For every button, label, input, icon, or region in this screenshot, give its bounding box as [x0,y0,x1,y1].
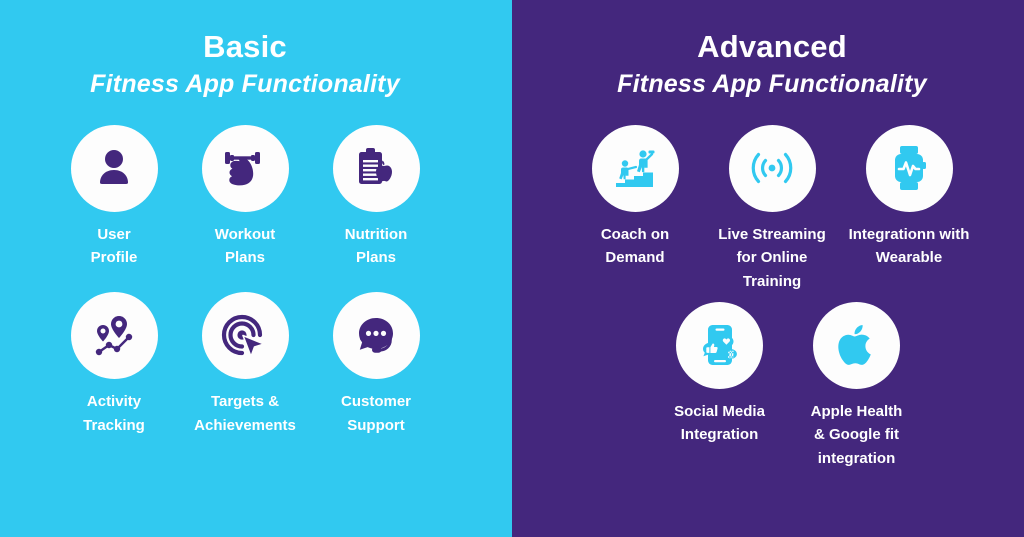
smartwatch-heartbeat-icon [886,143,932,193]
user-profile-badge [71,125,158,212]
feature-label: Nutrition Plans [345,223,407,270]
basic-panel: Basic Fitness App Functionality User Pro… [0,0,512,537]
social-media-badge [676,302,763,389]
coach-stairs-icon [610,143,660,193]
advanced-features-row-1: Coach on Demand [520,125,1024,294]
feature-nutrition-plans[interactable]: Nutrition Plans [311,125,442,270]
feature-label-line1: Apple Health [811,400,903,424]
feature-customer-support[interactable]: Customer Support [311,292,442,437]
feature-live-streaming[interactable]: Live Streaming for Online Training [704,125,841,294]
feature-label: Apple Health & Google fit integration [811,400,903,471]
fitness-app-functionality-infographic: Basic Fitness App Functionality User Pro… [0,0,1024,537]
targets-achievements-badge [202,292,289,379]
feature-label-line1: Workout [215,223,276,247]
map-pins-route-icon [89,311,139,361]
feature-label-line2: Profile [91,246,138,270]
feature-label-line2: Plans [215,246,276,270]
feature-label: Activity Tracking [83,390,145,437]
live-streaming-badge [729,125,816,212]
feature-label-line1: User [91,223,138,247]
advanced-heading-main: Advanced [520,30,1024,65]
target-cursor-icon [220,311,270,361]
activity-tracking-badge [71,292,158,379]
clipboard-apple-icon [351,143,401,193]
feature-label-line1: Coach on [601,223,669,247]
advanced-heading-sub: Fitness App Functionality [520,69,1024,99]
basic-heading-sub: Fitness App Functionality [0,69,512,99]
customer-support-badge [333,292,420,379]
headset-chat-icon [351,311,401,361]
feature-label: Social Media Integration [674,400,765,447]
feature-label-line2: for Online [718,246,826,270]
dumbbell-arm-icon [219,144,271,192]
workout-plans-badge [202,125,289,212]
feature-label-line1: Social Media [674,400,765,424]
feature-wearable-integration[interactable]: Integrationn with Wearable [841,125,978,294]
feature-label: Coach on Demand [601,223,669,270]
feature-label-line2: Tracking [83,414,145,438]
wearable-integration-badge [866,125,953,212]
feature-label-line2: Integration [674,423,765,447]
feature-workout-plans[interactable]: Workout Plans [180,125,311,270]
apple-logo-icon [835,320,879,370]
feature-label-line3: Training [718,270,826,294]
feature-label-line2: Demand [601,246,669,270]
broadcast-waves-icon [747,145,797,191]
advanced-features-row-2: Social Media Integration [552,302,1024,471]
feature-label-line1: Nutrition [345,223,407,247]
advanced-heading-block: Advanced Fitness App Functionality [512,0,1024,99]
feature-activity-tracking[interactable]: Activity Tracking [49,292,180,437]
feature-label-line1: Targets & [194,390,296,414]
feature-label-line2: Plans [345,246,407,270]
feature-coach-on-demand[interactable]: Coach on Demand [567,125,704,294]
feature-label-line2: Support [341,414,411,438]
feature-label: Live Streaming for Online Training [718,223,826,294]
feature-label-line3: integration [811,447,903,471]
coach-on-demand-badge [592,125,679,212]
feature-label: User Profile [91,223,138,270]
phone-social-icon [695,320,745,370]
basic-heading-block: Basic Fitness App Functionality [0,0,512,99]
advanced-panel: Advanced Fitness App Functionality [512,0,1024,537]
feature-label: Workout Plans [215,223,276,270]
feature-label-line2: Wearable [849,246,970,270]
basic-features-row-1: User Profile [0,125,512,270]
feature-targets-achievements[interactable]: Targets & Achievements [180,292,311,437]
basic-features-row-2: Activity Tracking [0,292,512,437]
apple-health-badge [813,302,900,389]
feature-apple-health-google-fit[interactable]: Apple Health & Google fit integration [788,302,925,471]
feature-label: Customer Support [341,390,411,437]
feature-label-line1: Customer [341,390,411,414]
nutrition-plans-badge [333,125,420,212]
feature-user-profile[interactable]: User Profile [49,125,180,270]
feature-social-media-integration[interactable]: Social Media Integration [651,302,788,471]
feature-label: Integrationn with Wearable [849,223,970,270]
basic-heading-main: Basic [0,30,512,65]
feature-label-line1: Activity [83,390,145,414]
feature-label-line1: Integrationn with [849,223,970,247]
user-profile-icon [90,144,138,192]
feature-label: Targets & Achievements [194,390,296,437]
feature-label-line2: & Google fit [811,423,903,447]
feature-label-line1: Live Streaming [718,223,826,247]
feature-label-line2: Achievements [194,414,296,438]
